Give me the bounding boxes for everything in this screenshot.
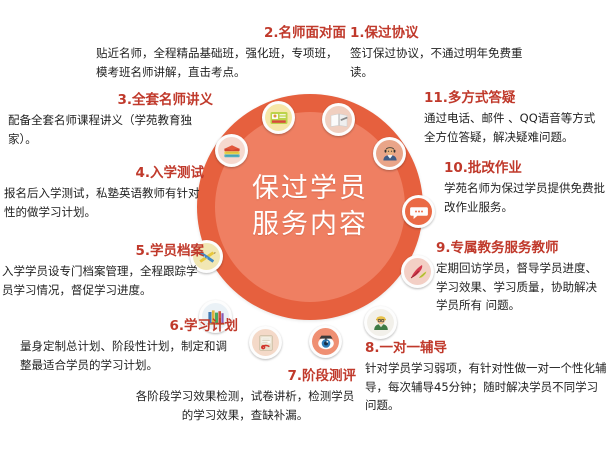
item-9-body: 定期回访学员，督导学员进度、学习效果、学习质量，协助解决学员所有 问题。 bbox=[436, 259, 608, 315]
notebook-pen-icon bbox=[325, 106, 352, 133]
item-2-body: 贴近名师，全程精品基础班，强化班，专项班，模考班名师讲解，直击考点。 bbox=[96, 44, 346, 81]
item-2-heading: 2.名师面对面 bbox=[96, 25, 346, 41]
item-5-body: 入学学员设专门档案管理，全程跟踪学员学习情况，督促学习进度。 bbox=[2, 262, 204, 299]
text-block-item-11: 11.多方式答疑 通过电话、邮件 、QQ语音等方式全方位答疑，解决疑难问题。 bbox=[424, 90, 604, 146]
text-block-item-3: 3.全套名师讲义 配备全套名师课程讲义（学苑教育独家）。 bbox=[8, 92, 213, 148]
icon-bubble-item-9[interactable] bbox=[401, 255, 434, 288]
item-7-body: 各阶段学习效果检测，试卷讲析，检测学员的学习效果，查缺补漏。 bbox=[134, 387, 356, 424]
text-block-item-7: 7.阶段测评 各阶段学习效果检测，试卷讲析，检测学员的学习效果，查缺补漏。 bbox=[134, 368, 356, 424]
text-block-item-4: 4.入学测试 报名后入学测试，私塾英语教师有针对性的做学习计划。 bbox=[4, 165, 204, 221]
text-block-item-10: 10.批改作业 学苑名师为保过学员提供免费批改作业服务。 bbox=[444, 160, 606, 216]
icon-bubble-item-6[interactable] bbox=[249, 326, 282, 359]
item-8-body: 针对学员学习弱项，有针对性做一对一个性化辅导，每次辅导45分钟；随时解决学员不同… bbox=[365, 359, 607, 415]
teacher-person-icon bbox=[367, 309, 394, 336]
text-block-item-9: 9.专属教务服务教师 定期回访学员，督导学员进度、学习效果、学习质量，协助解决学… bbox=[436, 240, 608, 315]
item-10-heading: 10.批改作业 bbox=[444, 160, 606, 176]
text-block-item-8: 8.一对一辅导 针对学员学习弱项，有针对性做一对一个性化辅导，每次辅导45分钟；… bbox=[365, 340, 607, 415]
clipboard-plan-icon bbox=[252, 329, 279, 356]
item-11-body: 通过电话、邮件 、QQ语音等方式全方位答疑，解决疑难问题。 bbox=[424, 109, 604, 146]
item-3-body: 配备全套名师课程讲义（学苑教育独家）。 bbox=[8, 111, 213, 148]
item-7-heading: 7.阶段测评 bbox=[134, 368, 356, 384]
text-block-item-1: 1.保过协议 签订保过协议，不通过明年免费重读。 bbox=[350, 25, 525, 81]
icon-bubble-item-2[interactable] bbox=[262, 101, 295, 134]
id-card-icon bbox=[265, 104, 292, 131]
item-11-heading: 11.多方式答疑 bbox=[424, 90, 604, 106]
icon-bubble-item-7[interactable] bbox=[309, 325, 342, 358]
item-8-heading: 8.一对一辅导 bbox=[365, 340, 607, 356]
item-1-heading: 1.保过协议 bbox=[350, 25, 525, 41]
item-10-body: 学苑名师为保过学员提供免费批改作业服务。 bbox=[444, 179, 606, 216]
text-block-item-5: 5.学员档案 入学学员设专门档案管理，全程跟踪学员学习情况，督促学习进度。 bbox=[2, 243, 204, 299]
icon-bubble-item-11[interactable] bbox=[373, 137, 406, 170]
headset-support-icon bbox=[376, 140, 403, 167]
item-4-heading: 4.入学测试 bbox=[4, 165, 204, 181]
text-block-item-6: 6.学习计划 量身定制总计划、阶段性计划，制定和调整最适合学员的学习计划。 bbox=[20, 318, 238, 374]
icon-bubble-item-3[interactable] bbox=[215, 134, 248, 167]
item-6-heading: 6.学习计划 bbox=[20, 318, 238, 334]
center-title-line-1: 保过学员 bbox=[252, 171, 368, 207]
text-block-item-2: 2.名师面对面 贴近名师，全程精品基础班，强化班，专项班，模考班名师讲解，直击考… bbox=[96, 25, 346, 81]
center-title-line-2: 服务内容 bbox=[252, 207, 368, 243]
infographic-canvas: 保过学员 服务内容 bbox=[0, 0, 609, 458]
item-1-body: 签订保过协议，不通过明年免费重读。 bbox=[350, 44, 525, 81]
item-4-body: 报名后入学测试，私塾英语教师有针对性的做学习计划。 bbox=[4, 184, 204, 221]
item-3-heading: 3.全套名师讲义 bbox=[8, 92, 213, 108]
speech-bubble-icon bbox=[405, 198, 432, 225]
item-9-heading: 9.专属教务服务教师 bbox=[436, 240, 608, 256]
item-5-heading: 5.学员档案 bbox=[2, 243, 204, 259]
icon-bubble-item-1[interactable] bbox=[322, 103, 355, 136]
pen-writing-icon bbox=[404, 258, 431, 285]
icon-bubble-item-10[interactable] bbox=[402, 195, 435, 228]
eye-review-icon bbox=[312, 328, 339, 355]
books-stack-icon bbox=[218, 137, 245, 164]
icon-bubble-item-8[interactable] bbox=[364, 306, 397, 339]
